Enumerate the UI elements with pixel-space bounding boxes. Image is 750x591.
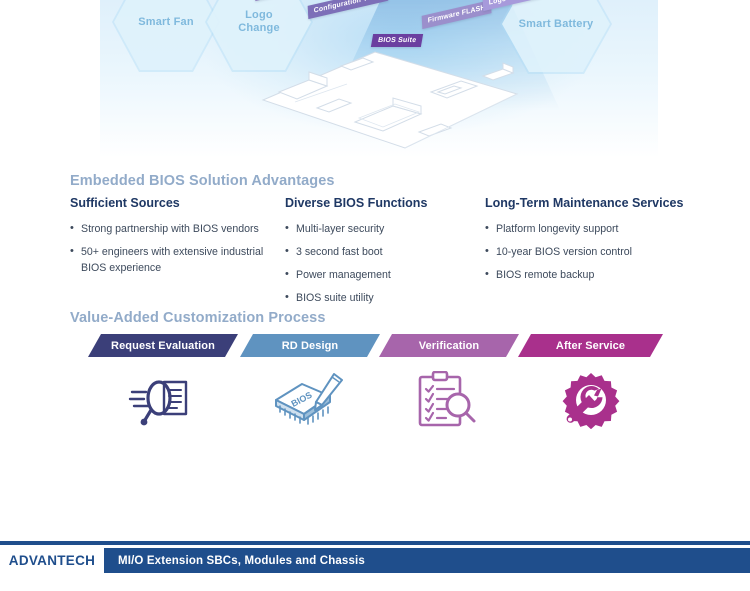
- column-bullet-list: Platform longevity support 10-year BIOS …: [485, 221, 690, 283]
- footer-divider: [0, 541, 750, 545]
- list-item: Multi-layer security: [285, 221, 485, 237]
- advantages-column-diverse-bios-functions: Diverse BIOS Functions Multi-layer secur…: [285, 196, 485, 313]
- list-item: 50+ engineers with extensive industrial …: [70, 244, 285, 276]
- column-title: Long-Term Maintenance Services: [485, 196, 690, 211]
- process-step-tab-rd-design[interactable]: RD Design: [240, 334, 380, 357]
- column-bullet-list: Strong partnership with BIOS vendors 50+…: [70, 221, 285, 276]
- hexagon-logo-change-label: Logo Change: [238, 9, 280, 34]
- column-title: Sufficient Sources: [70, 196, 285, 211]
- advantages-columns: Sufficient Sources Strong partnership wi…: [70, 196, 690, 313]
- bios-chip-pencil-icon: BIOS: [240, 366, 380, 434]
- process-step-tab-after-service[interactable]: After Service: [518, 334, 663, 357]
- process-chevron-banner: Request Evaluation RD Design Verificatio…: [70, 334, 690, 444]
- list-item: Platform longevity support: [485, 221, 690, 237]
- list-item: BIOS suite utility: [285, 290, 485, 306]
- hero-illustration: Smart Fan Logo Change Smart Battery: [100, 0, 658, 158]
- clipboard-checklist-magnifier-icon: [379, 366, 519, 434]
- process-step-label: After Service: [556, 340, 625, 352]
- hexagon-smart-battery-label: Smart Battery: [519, 18, 594, 31]
- process-step-tab-verification[interactable]: Verification: [379, 334, 519, 357]
- process-step-label: Verification: [419, 340, 480, 352]
- process-heading: Value-Added Customization Process: [70, 310, 326, 326]
- list-item: Power management: [285, 267, 485, 283]
- column-bullet-list: Multi-layer security 3 second fast boot …: [285, 221, 485, 306]
- motherboard-illustration: [255, 48, 525, 153]
- advantech-logo-text: ADVANTECH: [9, 553, 95, 568]
- magnifier-document-icon: [88, 366, 238, 434]
- advantages-column-long-term-maintenance-services: Long-Term Maintenance Services Platform …: [485, 196, 690, 313]
- footer-title: MI/O Extension SBCs, Modules and Chassis: [118, 555, 365, 567]
- process-step-tab-request-evaluation[interactable]: Request Evaluation: [88, 334, 238, 357]
- advantech-logo: ADVANTECH: [0, 548, 104, 573]
- tag-bios-suite: BIOS Suite: [371, 34, 423, 47]
- footer: ADVANTECH MI/O Extension SBCs, Modules a…: [0, 548, 750, 573]
- process-step-label: RD Design: [282, 340, 339, 352]
- column-title: Diverse BIOS Functions: [285, 196, 485, 211]
- process-step-label: Request Evaluation: [111, 340, 215, 352]
- footer-title-bar: MI/O Extension SBCs, Modules and Chassis: [104, 548, 750, 573]
- gear-wrench-icon: [518, 366, 663, 434]
- list-item: 3 second fast boot: [285, 244, 485, 260]
- hexagon-smart-fan-label: Smart Fan: [138, 16, 194, 29]
- list-item: Strong partnership with BIOS vendors: [70, 221, 285, 237]
- advantages-heading: Embedded BIOS Solution Advantages: [70, 173, 335, 189]
- advantages-column-sufficient-sources: Sufficient Sources Strong partnership wi…: [70, 196, 285, 313]
- list-item: BIOS remote backup: [485, 267, 690, 283]
- list-item: 10-year BIOS version control: [485, 244, 690, 260]
